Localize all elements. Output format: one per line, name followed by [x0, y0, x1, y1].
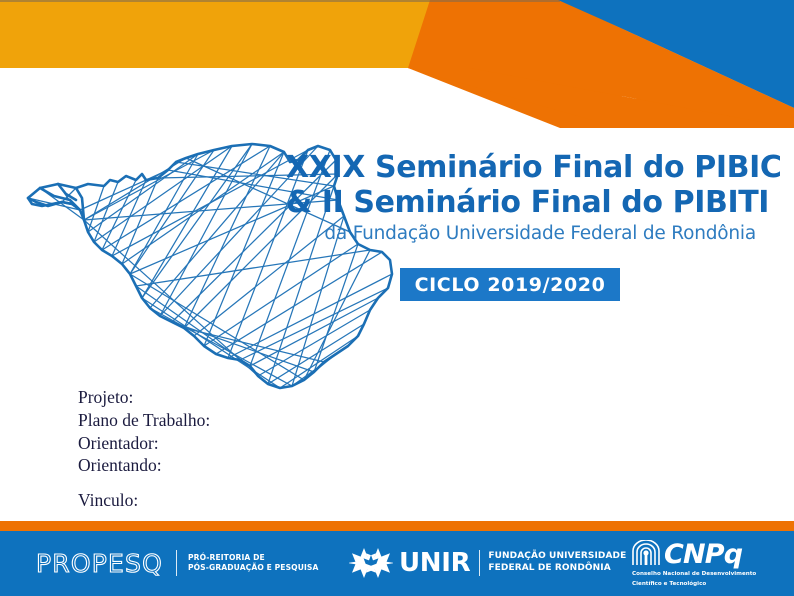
project-fields: Projeto: Plano de Trabalho: Orientador: … — [78, 386, 210, 512]
propesq-subtitle-line-2: PÓS-GRADUAÇÃO E PESQUISA — [188, 563, 319, 573]
unir-subtitle: FUNDAÇÃO UNIVERSIDADE FEDERAL DE RONDÔNI… — [488, 551, 626, 574]
presentation-slide: XXIX Seminário Final do PIBIC & II Semin… — [0, 0, 794, 596]
title-line-1: XXIX Seminário Final do PIBIC — [286, 150, 756, 185]
propesq-wordmark: PROPESQ — [36, 551, 163, 576]
title-line-2: & II Seminário Final do PIBITI — [286, 185, 756, 220]
field-label-orientando: Orientando: — [78, 454, 210, 477]
cnpq-subtitle-line-2: Científico e Tecnológico — [632, 580, 780, 588]
field-spacer — [78, 477, 210, 489]
field-label-plano-de-trabalho: Plano de Trabalho: — [78, 409, 210, 432]
propesq-subtitle: PRÓ-REITORIA DE PÓS-GRADUAÇÃO E PESQUISA — [188, 553, 319, 574]
cnpq-emblem-icon — [630, 540, 662, 568]
cnpq-logo: CNPq Conselho Nacional de Desenvolviment… — [630, 540, 780, 588]
unir-star-icon — [349, 546, 393, 580]
unir-subtitle-line-2: FEDERAL DE RONDÔNIA — [488, 563, 626, 575]
header-top-hairline — [0, 0, 560, 2]
propesq-logo: PROPESQ PRÓ-REITORIA DE PÓS-GRADUAÇÃO E … — [36, 543, 318, 583]
unir-logo: UNIR FUNDAÇÃO UNIVERSIDADE FEDERAL DE RO… — [349, 543, 626, 583]
cnpq-subtitle-line-1: Conselho Nacional de Desenvolvimento — [632, 570, 780, 578]
title-subtitle: da Fundação Universidade Federal de Rond… — [286, 222, 756, 247]
propesq-subtitle-line-1: PRÓ-REITORIA DE — [188, 553, 319, 563]
cycle-badge: CICLO 2019/2020 — [400, 268, 620, 301]
footer-bar: PROPESQ PRÓ-REITORIA DE PÓS-GRADUAÇÃO E … — [0, 531, 794, 596]
unir-wordmark: UNIR — [399, 550, 470, 576]
field-label-vinculo: Vinculo: — [78, 489, 210, 512]
field-label-projeto: Projeto: — [78, 386, 210, 409]
field-label-orientador: Orientador: — [78, 432, 210, 455]
unir-subtitle-line-1: FUNDAÇÃO UNIVERSIDADE — [488, 551, 626, 563]
title-block: XXIX Seminário Final do PIBIC & II Semin… — [286, 150, 756, 247]
footer-orange-rule — [0, 521, 794, 531]
unir-divider — [479, 550, 480, 576]
header-decoration — [0, 0, 794, 130]
propesq-divider — [176, 550, 177, 576]
cnpq-wordmark: CNPq — [664, 541, 742, 568]
